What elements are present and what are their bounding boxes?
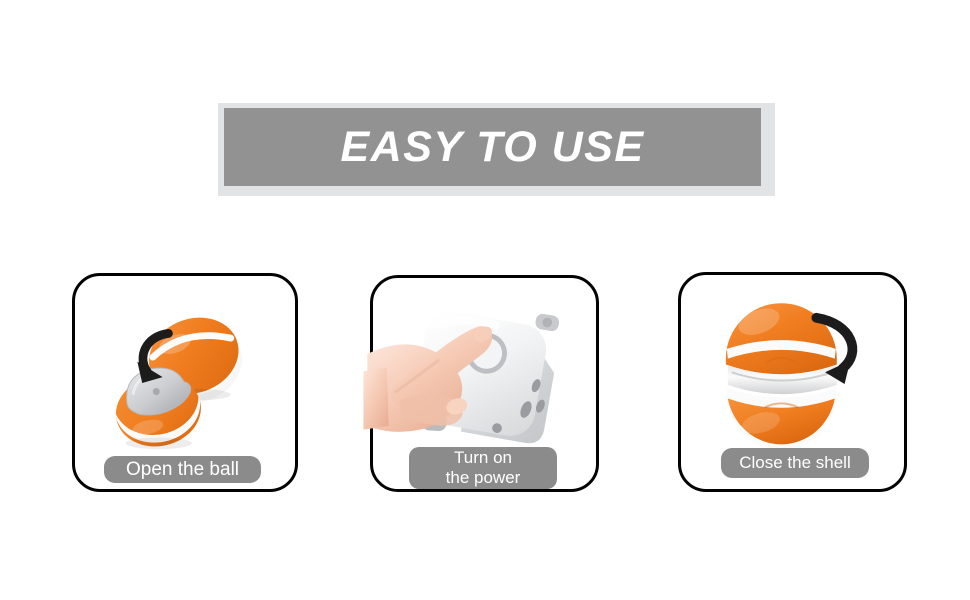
hand-icon — [363, 323, 494, 431]
caption-line: Open the ball — [126, 459, 239, 481]
caption-line: the power — [446, 468, 521, 488]
rotate-arrow-icon — [816, 318, 852, 384]
caption-turn-on-the-power: Turn on the power — [409, 447, 557, 489]
banner-bar: EASY TO USE — [224, 108, 761, 186]
caption-line: Turn on — [454, 448, 512, 468]
caption-close-the-shell: Close the shell — [721, 448, 869, 478]
page-title: EASY TO USE — [340, 126, 644, 169]
caption-line: Close the shell — [739, 453, 851, 473]
caption-open-the-ball: Open the ball — [104, 456, 261, 483]
rotate-arrow-icon — [137, 333, 168, 383]
